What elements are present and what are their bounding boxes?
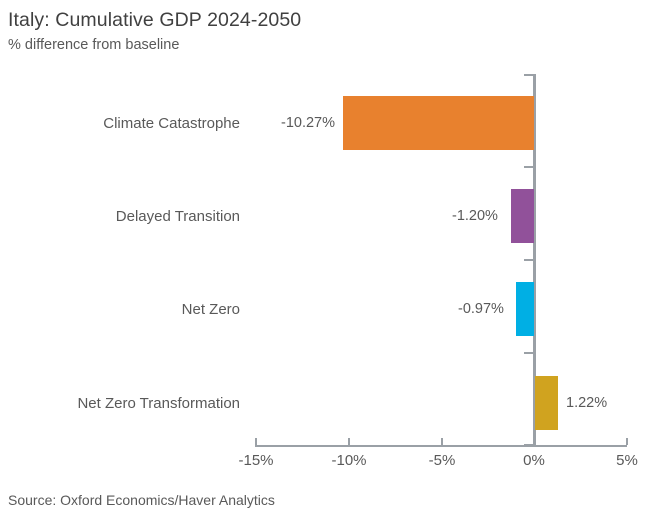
- x-axis-left-cap: [255, 438, 257, 445]
- category-label-climate-catastrophe: Climate Catastrophe: [103, 116, 240, 131]
- bar-value-label-net-zero-transformation: 1.22%: [566, 396, 607, 411]
- category-tick: [524, 166, 533, 168]
- x-axis-line: [255, 445, 627, 447]
- x-axis-tick-label: -5%: [429, 452, 456, 469]
- x-axis-right-cap: [626, 438, 628, 445]
- x-axis-tick: [533, 438, 535, 445]
- category-label-net-zero-transformation: Net Zero Transformation: [77, 396, 240, 411]
- x-axis-tick: [441, 438, 443, 445]
- category-tick: [524, 74, 533, 76]
- x-axis-tick: [348, 438, 350, 445]
- bar-delayed-transition[interactable]: [511, 189, 534, 243]
- bar-climate-catastrophe[interactable]: [343, 96, 534, 150]
- category-tick: [524, 259, 533, 261]
- plot-area: Climate Catastrophe -10.27% Delayed Tran…: [0, 0, 650, 520]
- bar-value-label-net-zero: -0.97%: [458, 302, 504, 317]
- source-note: Source: Oxford Economics/Haver Analytics: [8, 492, 275, 508]
- chart-container: Italy: Cumulative GDP 2024-2050 % differ…: [0, 0, 650, 520]
- x-axis-tick-label: 5%: [616, 452, 638, 469]
- bar-net-zero[interactable]: [516, 282, 534, 336]
- category-label-delayed-transition: Delayed Transition: [116, 209, 240, 224]
- x-axis-tick-label: 0%: [523, 452, 545, 469]
- x-axis-tick-label: -10%: [331, 452, 366, 469]
- category-tick: [524, 352, 533, 354]
- bar-value-label-delayed-transition: -1.20%: [452, 209, 498, 224]
- category-label-net-zero: Net Zero: [182, 302, 240, 317]
- bar-net-zero-transformation[interactable]: [535, 376, 558, 430]
- x-axis-tick-label: -15%: [238, 452, 273, 469]
- bar-value-label-climate-catastrophe: -10.27%: [281, 116, 335, 131]
